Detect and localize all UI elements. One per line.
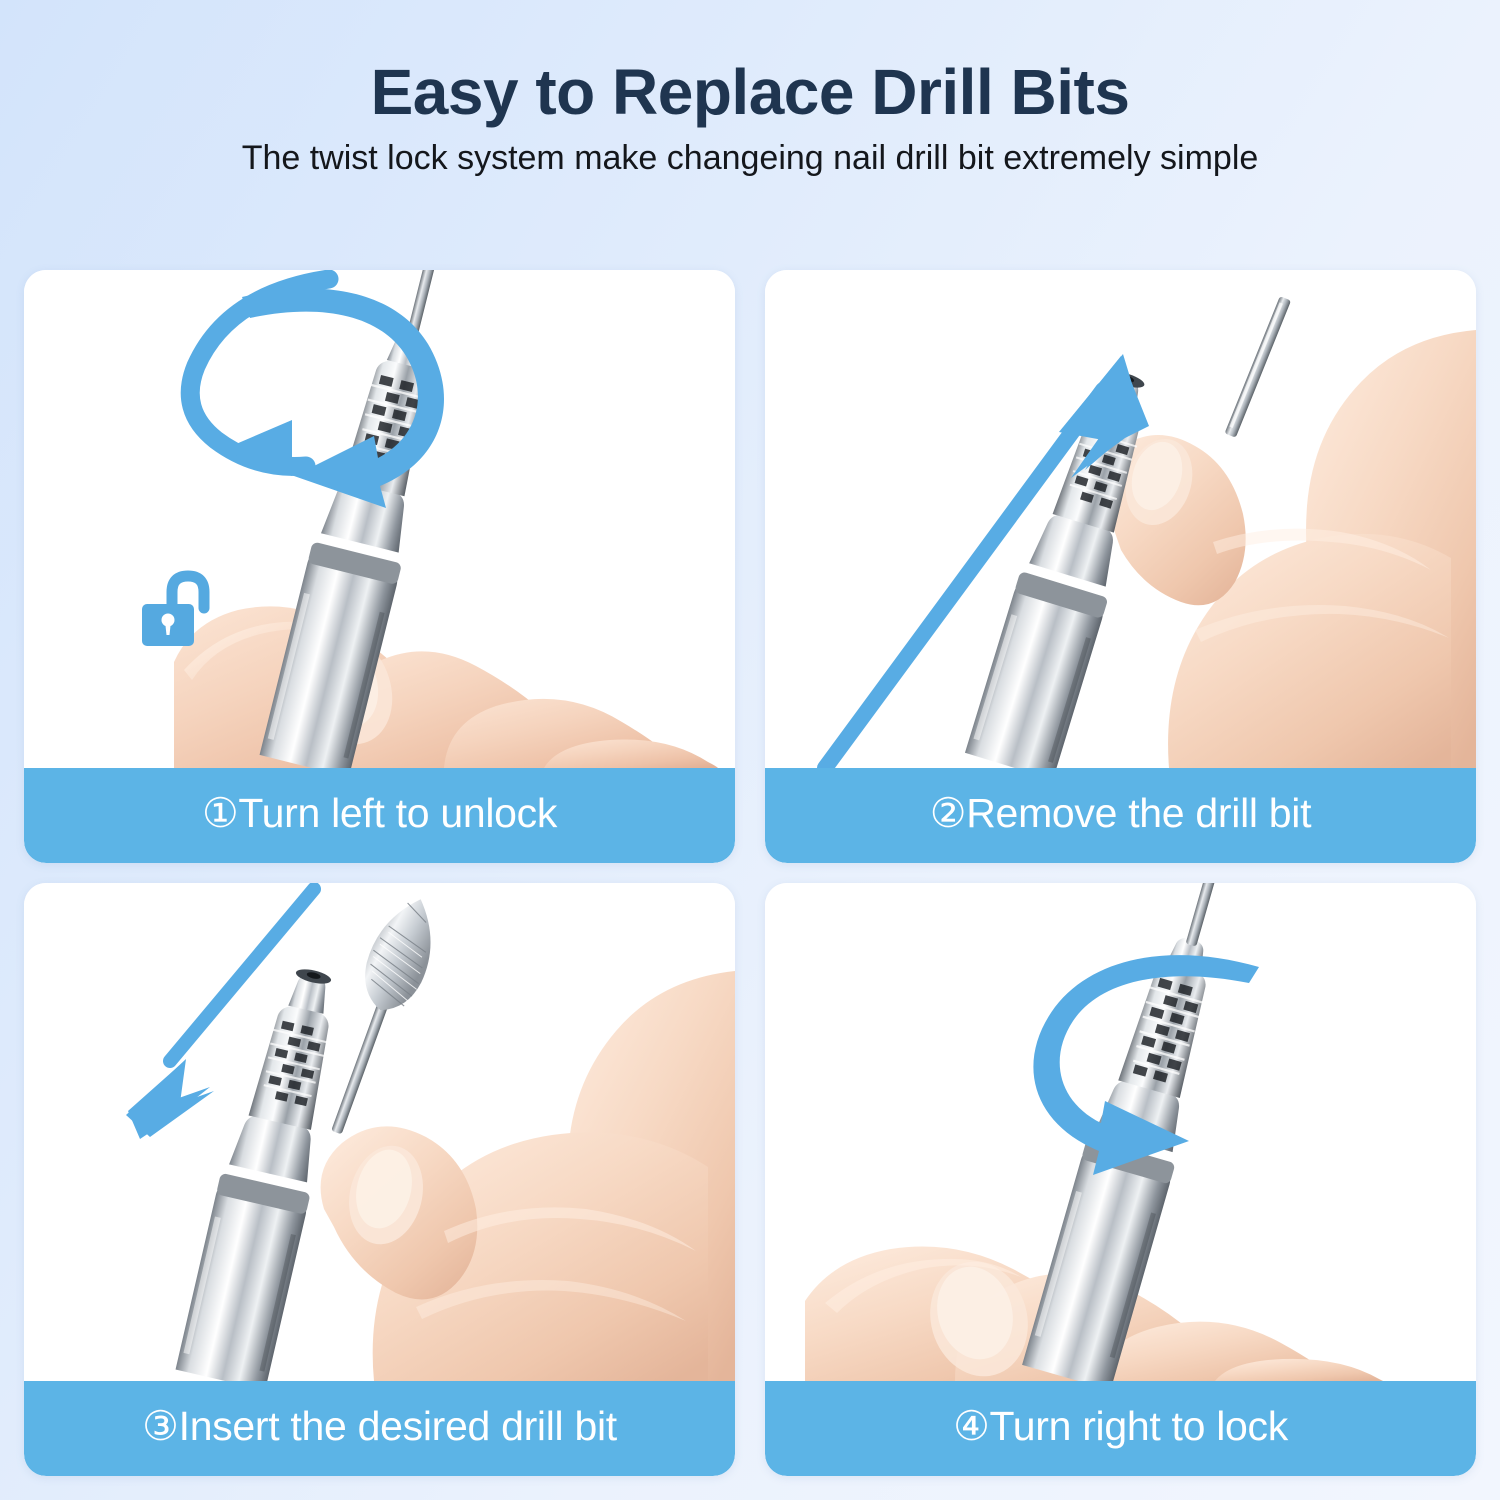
hand-illustration — [1101, 330, 1476, 768]
page-subtitle: The twist lock system make changeing nai… — [0, 139, 1500, 178]
step-photo-2 — [765, 270, 1476, 768]
step-caption-4: ④Turn right to lock — [765, 1381, 1476, 1476]
step-card-1[interactable]: ①Turn left to unlock — [24, 270, 735, 863]
step-card-2[interactable]: ②Remove the drill bit — [765, 270, 1476, 863]
chuck-knurled-section — [249, 1000, 338, 1129]
header: Easy to Replace Drill Bits The twist loc… — [0, 0, 1500, 178]
drill-unlock-illustration — [24, 270, 735, 768]
step-caption-3: ③Insert the desired drill bit — [24, 1381, 735, 1476]
drill-remove-illustration — [765, 270, 1476, 768]
step-card-3[interactable]: ③Insert the desired drill bit — [24, 883, 735, 1476]
flame-drill-bit — [308, 889, 448, 1142]
steps-grid: ①Turn left to unlock — [24, 270, 1476, 1476]
step-photo-3 — [24, 883, 735, 1381]
drill-insert-illustration — [24, 883, 735, 1381]
drill-lock-illustration — [765, 883, 1476, 1381]
step-card-4[interactable]: ④Turn right to lock — [765, 883, 1476, 1476]
step-photo-4 — [765, 883, 1476, 1381]
drill-bit-shaft — [406, 270, 443, 339]
step-caption-2: ②Remove the drill bit — [765, 768, 1476, 863]
step-photo-1 — [24, 270, 735, 768]
step-caption-1: ①Turn left to unlock — [24, 768, 735, 863]
page-title: Easy to Replace Drill Bits — [0, 58, 1500, 127]
removed-drill-bit — [1225, 296, 1292, 438]
hand-illustration — [321, 971, 735, 1381]
hand-illustration — [174, 606, 718, 768]
counter-clockwise-rotation-arrow — [190, 278, 380, 476]
chuck-knurled-section — [342, 355, 436, 497]
unlocked-padlock-icon — [138, 568, 212, 652]
